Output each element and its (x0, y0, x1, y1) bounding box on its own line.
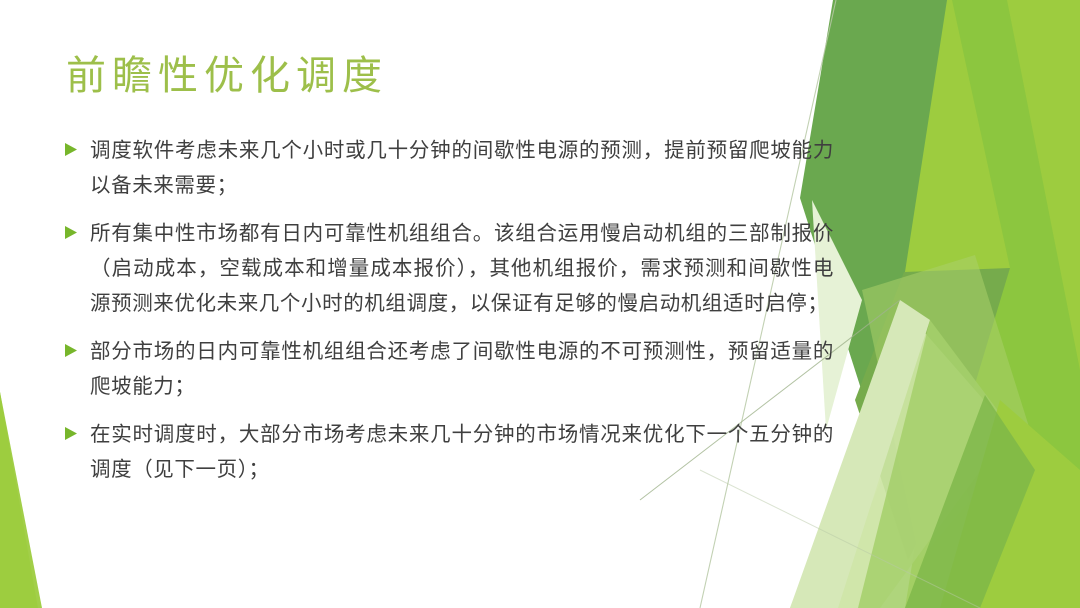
triangle-right-icon (64, 142, 78, 157)
list-item: 调度软件考虑未来几个小时或几十分钟的间歇性电源的预测，提前预留爬坡能力以备未来需… (64, 133, 834, 203)
bottom-left-wedge-shape (0, 392, 38, 608)
bullet-list: 调度软件考虑未来几个小时或几十分钟的间歇性电源的预测，提前预留爬坡能力以备未来需… (64, 133, 834, 500)
pale-underlay-shape (828, 0, 1080, 608)
triangle-right-icon (64, 426, 78, 441)
list-item: 部分市场的日内可靠性机组组合还考虑了间歇性电源的不可预测性，预留适量的爬坡能力； (64, 334, 834, 404)
lime-lower-wedge-shape (940, 400, 1080, 608)
list-item-text: 调度软件考虑未来几个小时或几十分钟的间歇性电源的预测，提前预留爬坡能力以备未来需… (90, 133, 834, 203)
presentation-slide: 前瞻性优化调度 调度软件考虑未来几个小时或几十分钟的间歇性电源的预测，提前预留爬… (0, 0, 1080, 608)
light-green-overlay-upper (862, 255, 1030, 560)
mid-lime-triangle-shape (852, 0, 1010, 470)
list-item: 所有集中性市场都有日内可靠性机组组合。该组合运用慢启动机组的三部制报价（启动成本… (64, 216, 834, 321)
list-item: 在实时调度时，大部分市场考虑未来几十分钟的市场情况来优化下一个五分钟的调度（见下… (64, 417, 834, 487)
list-item-text: 所有集中性市场都有日内可靠性机组组合。该组合运用慢启动机组的三部制报价（启动成本… (90, 216, 834, 321)
slide-title: 前瞻性优化调度 (66, 52, 388, 100)
bright-green-band-shape (900, 0, 1080, 608)
lime-field-shape (905, 0, 1080, 608)
deep-green-accent-shape (905, 395, 1035, 608)
triangle-right-icon (64, 343, 78, 358)
medium-green-v-shape (855, 268, 1010, 560)
triangle-right-icon (64, 225, 78, 240)
bottom-left-wedge-shape-2 (0, 392, 42, 608)
light-green-mid-triangle (858, 320, 1020, 608)
list-item-text: 在实时调度时，大部分市场考虑未来几十分钟的市场情况来优化下一个五分钟的调度（见下… (90, 417, 834, 487)
list-item-text: 部分市场的日内可靠性机组组合还考虑了间歇性电源的不可预测性，预留适量的爬坡能力； (90, 334, 834, 404)
